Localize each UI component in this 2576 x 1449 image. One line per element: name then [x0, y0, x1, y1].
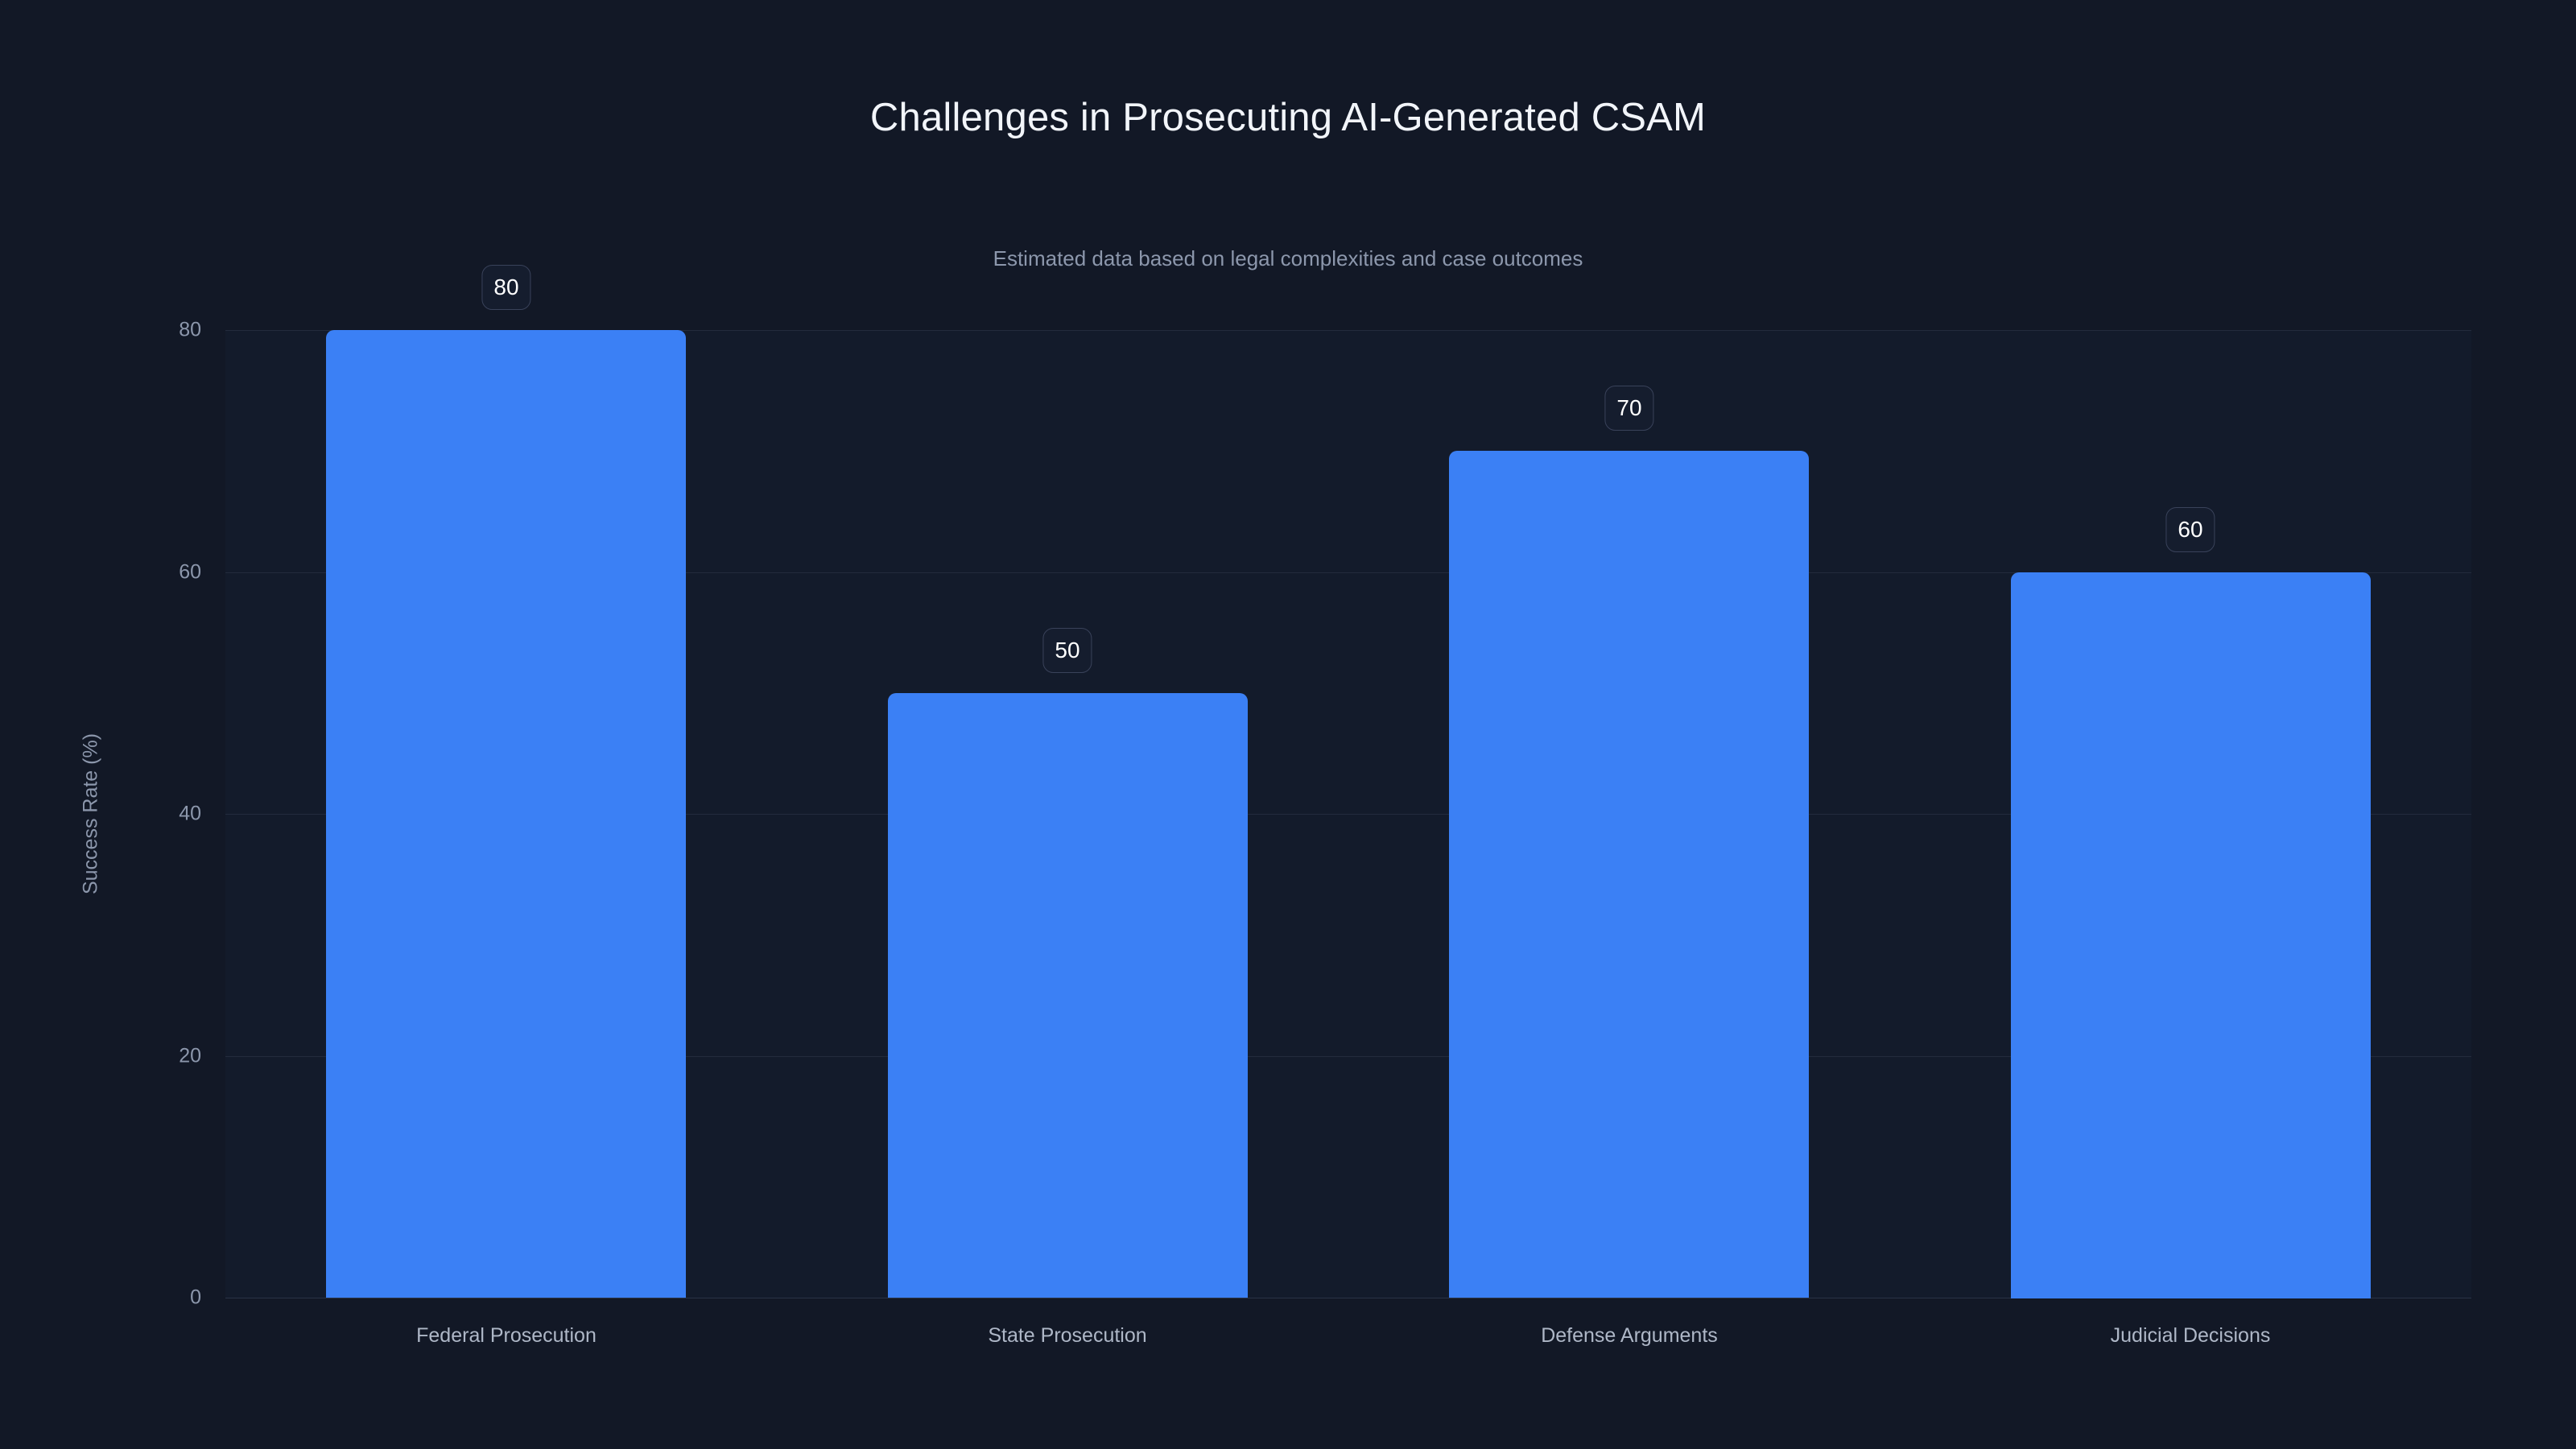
- bar[interactable]: [2011, 572, 2371, 1298]
- y-axis-title: Success Rate (%): [80, 733, 103, 894]
- x-axis-category-label: Federal Prosecution: [416, 1324, 597, 1348]
- y-axis-tick-label: 20: [113, 1045, 201, 1068]
- bar-value-badge: 60: [2165, 507, 2215, 552]
- bar[interactable]: [326, 330, 686, 1298]
- y-axis-tick-label: 80: [113, 319, 201, 342]
- bar-value-badge: 70: [1604, 386, 1653, 431]
- chart-canvas: Challenges in Prosecuting AI-Generated C…: [0, 0, 2576, 1449]
- bar[interactable]: [888, 693, 1248, 1298]
- y-axis-tick-label: 60: [113, 561, 201, 584]
- y-axis-tick-label: 40: [113, 803, 201, 826]
- bar-value-badge: 80: [481, 265, 530, 310]
- y-axis-tick-label: 0: [113, 1286, 201, 1310]
- bar[interactable]: [1449, 451, 1809, 1298]
- chart-subtitle: Estimated data based on legal complexiti…: [0, 246, 2576, 271]
- chart-title: Challenges in Prosecuting AI-Generated C…: [0, 95, 2576, 140]
- x-axis-category-label: State Prosecution: [988, 1324, 1146, 1348]
- x-axis-category-label: Defense Arguments: [1541, 1324, 1718, 1348]
- bar-value-badge: 50: [1042, 628, 1092, 673]
- x-axis-category-label: Judicial Decisions: [2111, 1324, 2271, 1348]
